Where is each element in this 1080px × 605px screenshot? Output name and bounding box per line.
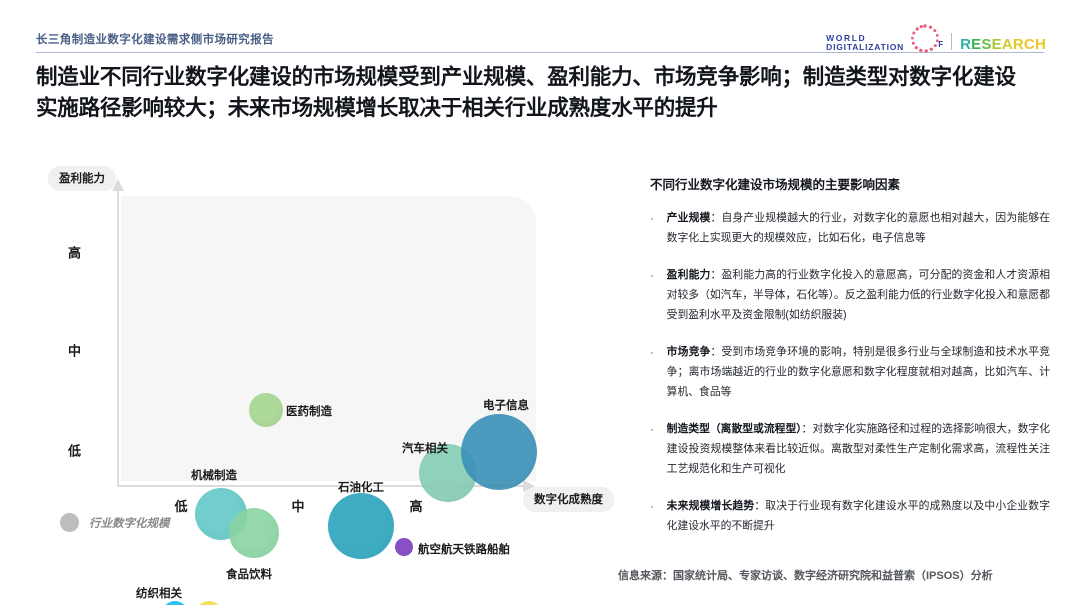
bubble-label-3: 机械制造: [191, 467, 237, 483]
x-tick-1: 中: [291, 496, 304, 515]
x-axis-label: 数字化成熟度: [523, 487, 614, 512]
bubble-0[interactable]: [249, 393, 283, 427]
bullet-marker-icon: ·: [650, 497, 654, 537]
logo-research-letter: R: [1013, 36, 1024, 53]
logo-research-letter: C: [1024, 36, 1035, 53]
x-tick-0: 低: [174, 496, 187, 515]
factor-text-0: 产业规模：自身产业规模越大的行业，对数字化的意愿也相对越大，因为能够在数字化上实…: [667, 209, 1050, 249]
bubble-4[interactable]: [229, 508, 279, 558]
report-header-title: 长三角制造业数字化建设需求侧市场研究报告: [36, 31, 274, 47]
logo-ring-icon: F: [908, 22, 942, 56]
size-legend: 行业数字化规模: [60, 513, 170, 532]
factor-term-4: 未来规模增长趋势: [667, 500, 755, 512]
y-tick-1: 中: [68, 341, 81, 360]
y-axis-line: [117, 190, 119, 487]
bubble-label-1: 电子信息: [483, 397, 529, 413]
y-tick-0: 高: [68, 243, 81, 262]
bullet-marker-icon: ·: [650, 420, 654, 480]
logo-word-digitalization: DIGITALIZATION: [826, 43, 904, 52]
factor-text-4: 未来规模增长趋势：取决于行业现有数字化建设水平的成熟度以及中小企业数字化建设水平…: [667, 497, 1050, 537]
logo-world-digitalization: WORLD DIGITALIZATION F: [826, 22, 943, 52]
bubble-label-6: 航空航天铁路船舶: [418, 541, 510, 557]
size-legend-label: 行业数字化规模: [89, 515, 170, 531]
logo-research-wordmark: RESEARCH: [960, 36, 1046, 53]
logo-wordmark: WORLD DIGITALIZATION: [826, 34, 904, 52]
factor-term-2: 市场竞争: [667, 346, 711, 358]
size-legend-circle: [60, 513, 79, 532]
factor-term-0: 产业规模: [667, 212, 711, 224]
bubble-label-7: 纺织相关: [136, 585, 182, 601]
logo-research-letter: H: [1035, 36, 1046, 53]
factors-panel: 不同行业数字化建设市场规模的主要影响因素 ·产业规模：自身产业规模越大的行业，对…: [650, 174, 1050, 554]
y-tick-2: 低: [68, 441, 81, 460]
factor-item-2: ·市场竞争：受到市场竞争环境的影响，特别是很多行业与全球制造和技术水平竞争；离市…: [650, 343, 1050, 403]
logo-separator: [951, 33, 952, 50]
factor-item-4: ·未来规模增长趋势：取决于行业现有数字化建设水平的成熟度以及中小企业数字化建设水…: [650, 497, 1050, 537]
bubble-6[interactable]: [395, 538, 413, 556]
x-tick-2: 高: [409, 496, 422, 515]
bullet-marker-icon: ·: [650, 266, 654, 326]
factor-text-3: 制造类型（离散型或流程型）：对数字化实施路径和过程的选择影响很大，数字化建设投资…: [667, 420, 1050, 480]
bullet-marker-icon: ·: [650, 209, 654, 249]
bubble-label-2: 汽车相关: [402, 440, 448, 456]
logo-research-letter: R: [960, 36, 971, 53]
factor-term-1: 盈利能力: [667, 269, 711, 281]
logo-research-letter: E: [971, 36, 981, 53]
source-note: 信息来源：国家统计局、专家访谈、数字经济研究院和益普索（IPSOS）分析: [618, 567, 993, 583]
factor-item-0: ·产业规模：自身产业规模越大的行业，对数字化的意愿也相对越大，因为能够在数字化上…: [650, 209, 1050, 249]
bubble-label-4: 食品饮料: [226, 566, 272, 582]
bubble-1[interactable]: [461, 414, 537, 490]
page-title: 制造业不同行业数字化建设的市场规模受到产业规模、盈利能力、市场竞争影响；制造类型…: [36, 62, 1036, 123]
bubble-7[interactable]: [162, 601, 188, 605]
logo-research-letter: E: [992, 36, 1002, 53]
factors-panel-heading: 不同行业数字化建设市场规模的主要影响因素: [650, 174, 1050, 193]
factor-text-1: 盈利能力：盈利能力高的行业数字化投入的意愿高，可分配的资金和人才资源相对较多（如…: [667, 266, 1050, 326]
bubble-chart: 盈利能力 数字化成熟度 高中低 低中高 医药制造电子信息汽车相关机械制造食品饮料…: [36, 166, 636, 556]
factor-term-3: 制造类型（离散型或流程型）: [667, 423, 802, 435]
logo-letter-f: F: [938, 40, 943, 49]
bubble-label-5: 石油化工: [338, 479, 384, 495]
factors-list: ·产业规模：自身产业规模越大的行业，对数字化的意愿也相对越大，因为能够在数字化上…: [650, 209, 1050, 537]
logo-research-letter: A: [1002, 36, 1013, 53]
brand-logo: WORLD DIGITALIZATION F: [826, 16, 1046, 52]
y-axis-label: 盈利能力: [48, 166, 116, 191]
bubble-5[interactable]: [328, 493, 394, 559]
header-divider: [36, 52, 1044, 53]
logo-research-letter: S: [981, 36, 991, 53]
factor-text-2: 市场竞争：受到市场竞争环境的影响，特别是很多行业与全球制造和技术水平竞争；离市场…: [667, 343, 1050, 403]
bubble-label-0: 医药制造: [286, 403, 332, 419]
bullet-marker-icon: ·: [650, 343, 654, 403]
bubble-8[interactable]: [196, 601, 222, 605]
slide-root: 长三角制造业数字化建设需求侧市场研究报告 WORLD DIGITALIZATIO…: [0, 0, 1080, 605]
factor-item-3: ·制造类型（离散型或流程型）：对数字化实施路径和过程的选择影响很大，数字化建设投…: [650, 420, 1050, 480]
factor-item-1: ·盈利能力：盈利能力高的行业数字化投入的意愿高，可分配的资金和人才资源相对较多（…: [650, 266, 1050, 326]
